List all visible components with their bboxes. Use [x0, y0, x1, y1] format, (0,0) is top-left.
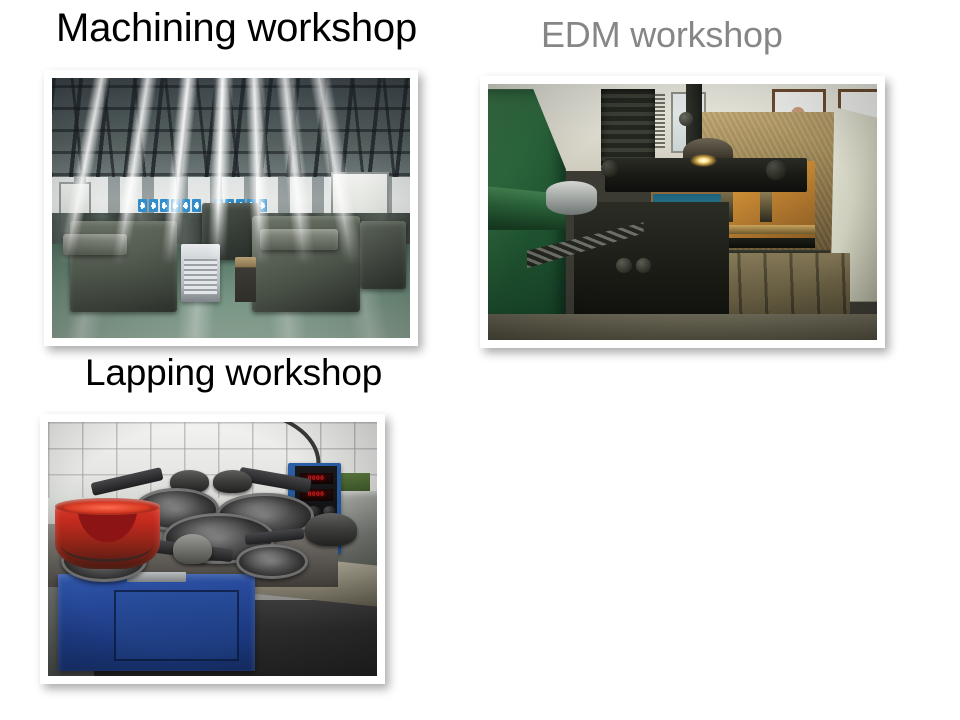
photo-vignette — [48, 422, 377, 676]
photo-machining-canvas — [52, 78, 410, 338]
page-title-machining: Machining workshop — [56, 6, 417, 51]
photo-edm-canvas — [488, 84, 877, 340]
photo-lapping-workshop: 0000 0000 — [40, 414, 385, 684]
page-title-edm: EDM workshop — [541, 14, 783, 56]
photo-edm-workshop — [480, 76, 885, 348]
photo-vignette — [52, 78, 410, 338]
photo-lapping-canvas: 0000 0000 — [48, 422, 377, 676]
photo-machining-workshop — [44, 70, 418, 346]
photo-vignette — [488, 84, 877, 340]
slide-canvas: Machining workshop EDM workshop Lapping … — [0, 0, 960, 720]
page-title-lapping: Lapping workshop — [85, 352, 382, 394]
